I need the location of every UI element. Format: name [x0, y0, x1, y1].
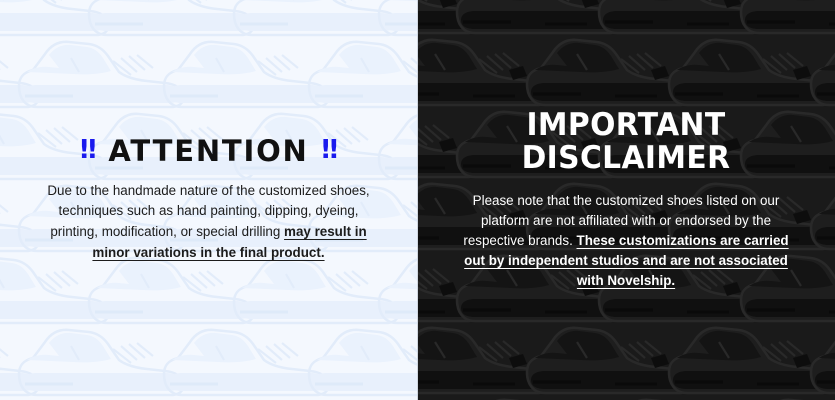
attention-panel: ‼ ATTENTION ‼ Due to the handmade nature…	[0, 0, 417, 400]
disclaimer-heading-line-2: DISCLAIMER	[458, 142, 794, 175]
disclaimer-panel: IMPORTANT DISCLAIMER Please note that th…	[417, 0, 835, 400]
panel-divider	[417, 0, 418, 400]
attention-content: ‼ ATTENTION ‼ Due to the handmade nature…	[0, 136, 417, 264]
attention-heading: ‼ ATTENTION ‼	[34, 136, 383, 166]
disclaimer-heading: IMPORTANT DISCLAIMER	[458, 109, 794, 175]
disclaimer-heading-line-1: IMPORTANT	[458, 109, 794, 142]
double-exclamation-right-icon: ‼	[322, 137, 337, 163]
disclaimer-banner: ‼ ATTENTION ‼ Due to the handmade nature…	[0, 0, 835, 400]
disclaimer-body: Please note that the customized shoes li…	[458, 191, 794, 292]
attention-heading-text: ATTENTION	[108, 136, 308, 166]
double-exclamation-left-icon: ‼	[80, 137, 95, 163]
attention-body: Due to the handmade nature of the custom…	[44, 181, 374, 264]
disclaimer-content: IMPORTANT DISCLAIMER Please note that th…	[417, 109, 835, 291]
